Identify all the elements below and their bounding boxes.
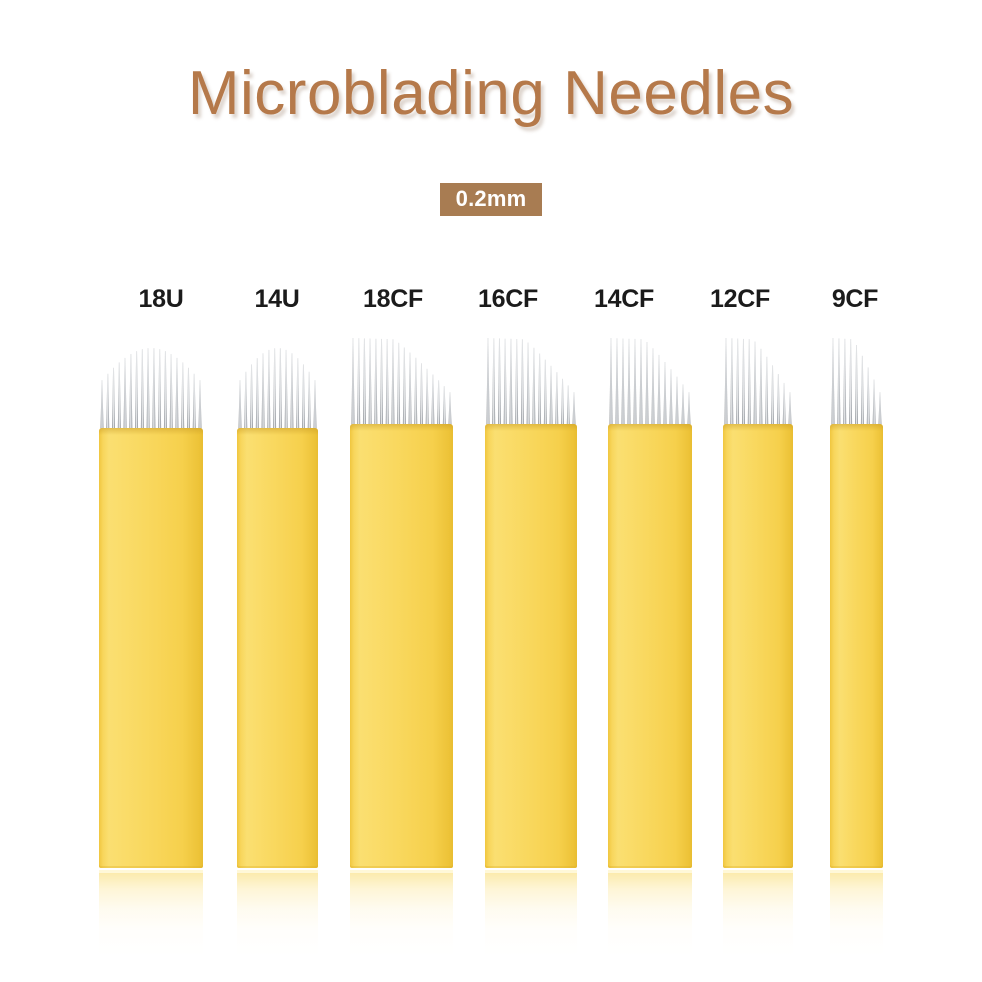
- needle-pin: [509, 339, 512, 427]
- needle-pin: [487, 338, 490, 427]
- needle-pin: [616, 338, 619, 427]
- handle-top-shading: [830, 424, 883, 431]
- handle-reflection-14cf: [608, 870, 692, 956]
- reflection-sheen: [608, 870, 692, 873]
- needle-pin: [374, 339, 377, 427]
- needle-blade-12cf: [723, 336, 793, 428]
- needle-pin: [101, 380, 104, 431]
- needle-blade-18cf: [350, 336, 453, 428]
- needle-handle-16cf: [485, 424, 577, 868]
- needle-pin: [363, 338, 366, 427]
- needle-pin: [403, 347, 406, 427]
- needle-pin: [759, 349, 762, 427]
- needle-pin: [170, 354, 173, 431]
- handle-reflection-9cf: [830, 870, 883, 956]
- reflection-sheen: [830, 870, 883, 873]
- needle-pin: [742, 339, 745, 427]
- needle-pin: [783, 383, 786, 427]
- needle-pin: [386, 339, 389, 427]
- needle-label-9cf: 9CF: [785, 285, 925, 314]
- needle-pin: [308, 372, 311, 431]
- needle-pin: [646, 342, 649, 427]
- needle-pin: [426, 369, 429, 427]
- needle-pin: [397, 343, 400, 427]
- handle-top-shading: [237, 428, 318, 435]
- needle-pin: [141, 349, 144, 431]
- needle-handle-12cf: [723, 424, 793, 868]
- needle-pin: [414, 358, 417, 427]
- needle-handle-14u: [237, 428, 318, 868]
- reflection-sheen: [723, 870, 793, 873]
- needle-pin: [736, 339, 739, 427]
- needle-pin: [267, 350, 270, 431]
- needle-pin: [789, 392, 792, 427]
- needle-pin: [369, 339, 372, 427]
- needle-pin: [409, 353, 412, 427]
- handle-top-shading: [485, 424, 577, 431]
- needle-pin: [256, 358, 259, 431]
- reflection-sheen: [350, 870, 453, 873]
- needle-pin: [285, 350, 288, 431]
- reflection-sheen: [99, 870, 203, 873]
- needle-pin: [187, 368, 190, 431]
- needle-pin: [544, 360, 547, 427]
- needle-pin: [622, 338, 625, 427]
- needle-pin: [290, 353, 293, 431]
- needle-pin: [771, 365, 774, 427]
- needle-pin: [725, 338, 728, 427]
- needle-pin: [730, 338, 733, 427]
- needle-pin: [106, 374, 109, 431]
- needle-pin: [449, 392, 452, 427]
- handle-top-shading: [350, 424, 453, 431]
- needle-pin: [748, 339, 751, 427]
- needle-pin: [832, 338, 835, 427]
- needle-pin: [302, 364, 305, 431]
- needle-pin: [273, 348, 276, 431]
- needle-pin: [670, 369, 673, 427]
- needle-pin: [682, 384, 685, 427]
- product-image-canvas: Microblading Needles 0.2mm 18U14U18CF16C…: [0, 0, 982, 982]
- needle-pin: [843, 339, 846, 427]
- handle-reflection-14u: [237, 870, 318, 956]
- needle-pin: [658, 355, 661, 427]
- handle-top-shading: [99, 428, 203, 435]
- needle-pin: [296, 358, 299, 431]
- needle-pin: [550, 366, 553, 427]
- needle-pin: [112, 368, 115, 431]
- needle-pin: [521, 339, 524, 427]
- needle-blade-16cf: [485, 336, 577, 428]
- needle-pin: [664, 362, 667, 427]
- needle-pin: [199, 380, 202, 431]
- reflection-sheen: [237, 870, 318, 873]
- needle-blade-9cf: [830, 336, 883, 428]
- needle-pin: [380, 339, 383, 427]
- needle-pin: [754, 342, 757, 427]
- needle-pin: [124, 358, 127, 431]
- needle-pin: [676, 377, 679, 427]
- needle-pin: [879, 392, 882, 427]
- needle-pin: [640, 339, 643, 427]
- needle-pin: [837, 338, 840, 427]
- needle-handle-18cf: [350, 424, 453, 868]
- needle-pin: [239, 380, 242, 431]
- needle-pin: [567, 385, 570, 427]
- needle-blade-14cf: [608, 336, 692, 428]
- handle-top-shading: [608, 424, 692, 431]
- needle-pin: [867, 367, 870, 427]
- needle-pin: [152, 348, 155, 431]
- needle-pin: [515, 339, 518, 427]
- needle-pin: [652, 348, 655, 427]
- needle-pin: [492, 338, 495, 427]
- needle-pin: [250, 364, 253, 431]
- reflection-sheen: [485, 870, 577, 873]
- needle-handle-14cf: [608, 424, 692, 868]
- needle-handle-18u: [99, 428, 203, 868]
- needle-blade-14u: [237, 346, 318, 432]
- needle-pin: [357, 338, 360, 427]
- needle-pin: [527, 342, 530, 427]
- needle-pin: [873, 380, 876, 427]
- needle-pin: [504, 339, 507, 427]
- needle-pin: [861, 356, 864, 427]
- needle-lineup: 18U14U18CF16CF14CF12CF9CF: [0, 0, 982, 982]
- needle-pin: [391, 339, 394, 427]
- needle-pin: [135, 351, 138, 431]
- needle-pin: [118, 362, 121, 431]
- needle-blade-18u: [99, 346, 203, 432]
- needle-pin: [279, 348, 282, 431]
- needle-pin: [849, 339, 852, 427]
- needle-pin: [561, 379, 564, 427]
- needle-pin: [573, 392, 576, 427]
- needle-pin: [147, 348, 150, 431]
- needle-pin: [532, 348, 535, 427]
- needle-pin: [181, 362, 184, 431]
- needle-pin: [352, 338, 355, 427]
- handle-reflection-12cf: [723, 870, 793, 956]
- needle-pin: [538, 354, 541, 427]
- needle-pin: [262, 353, 265, 431]
- needle-pin: [628, 339, 631, 427]
- needle-pin: [175, 358, 178, 431]
- needle-pin: [777, 374, 780, 427]
- handle-reflection-18u: [99, 870, 203, 956]
- needle-pin: [164, 351, 167, 431]
- needle-pin: [855, 345, 858, 427]
- needle-pin: [765, 357, 768, 427]
- needle-pin: [555, 372, 558, 427]
- handle-reflection-16cf: [485, 870, 577, 956]
- needle-pin: [437, 380, 440, 427]
- needle-handle-9cf: [830, 424, 883, 868]
- needle-pin: [420, 363, 423, 427]
- needle-pin: [688, 392, 691, 427]
- needle-pin: [158, 349, 161, 431]
- needle-pin: [634, 339, 637, 427]
- needle-pin: [314, 380, 317, 431]
- needle-pin: [244, 372, 247, 431]
- needle-pin: [193, 374, 196, 431]
- needle-pin: [431, 374, 434, 427]
- handle-reflection-18cf: [350, 870, 453, 956]
- needle-pin: [610, 338, 613, 427]
- needle-pin: [129, 354, 132, 431]
- needle-pin: [443, 386, 446, 427]
- needle-pin: [498, 338, 501, 427]
- handle-top-shading: [723, 424, 793, 431]
